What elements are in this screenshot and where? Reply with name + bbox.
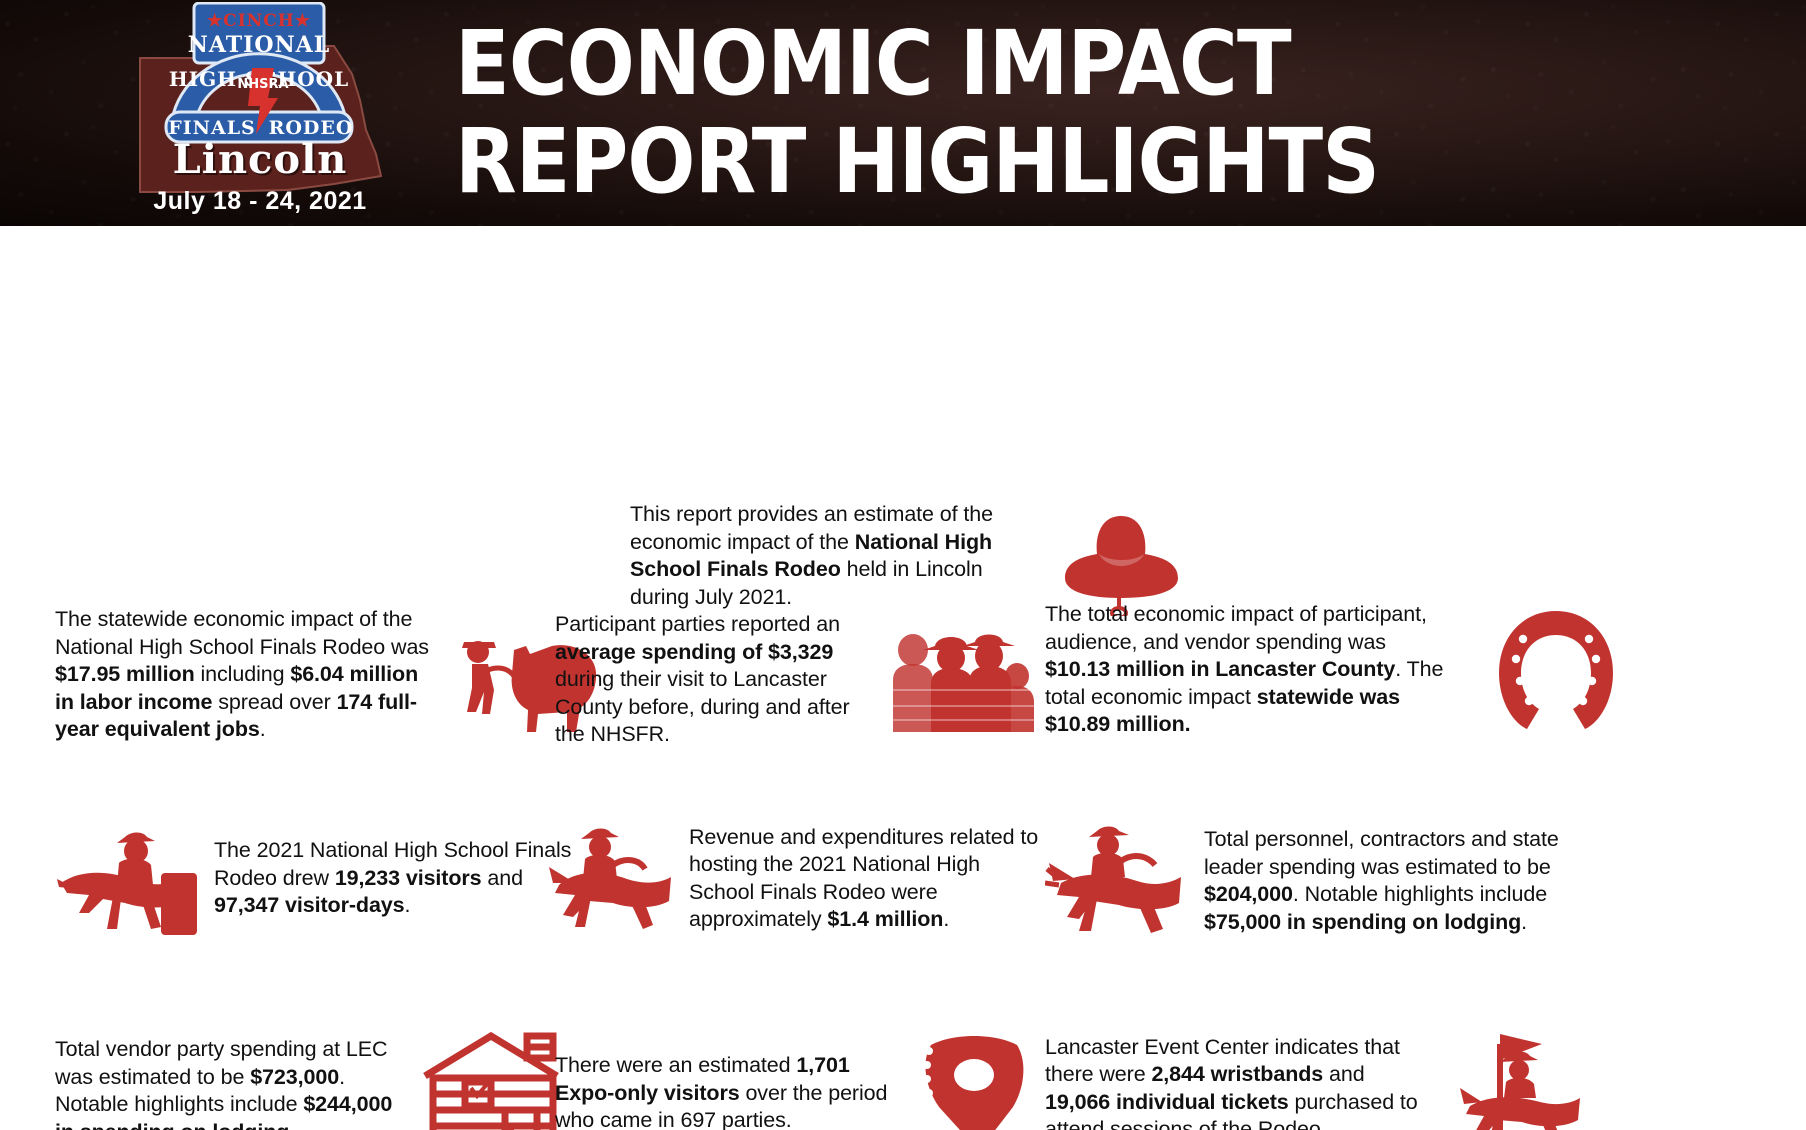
svg-text:★CINCH★: ★CINCH★ bbox=[207, 11, 311, 31]
bandana-icon bbox=[909, 1031, 1039, 1130]
cell-text-vendor-spending: Total vendor party spending at LEC was e… bbox=[55, 1036, 405, 1130]
cell-wristbands-tickets: Lancaster Event Center indicates that th… bbox=[1045, 1026, 1775, 1130]
cell-text-participant-spending: Participant parties reported an average … bbox=[555, 611, 875, 749]
cell-personnel-spending: Total personnel, contractors and state l… bbox=[1045, 821, 1775, 941]
nhsfr-logo: ★CINCH★ NATIONAL HIGH SCHOOL FINALS RODE… bbox=[130, 2, 390, 222]
svg-text:NHSRA: NHSRA bbox=[237, 77, 288, 92]
log-cabin-icon bbox=[419, 1026, 569, 1130]
logo-city-label: Lincoln bbox=[130, 140, 390, 180]
cell-total-economic-impact: The total economic impact of participant… bbox=[1045, 601, 1775, 739]
page-header: ★CINCH★ NATIONAL HIGH SCHOOL FINALS RODE… bbox=[0, 0, 1806, 226]
rodeo-crowd-photo-icon bbox=[889, 624, 1034, 736]
bronc-rider-icon bbox=[545, 821, 675, 936]
cowboy-hat-icon bbox=[1049, 496, 1194, 616]
nhsfr-badge-icon: ★CINCH★ NATIONAL HIGH SCHOOL FINALS RODE… bbox=[156, 2, 362, 154]
horseshoe-icon bbox=[1489, 605, 1624, 735]
cell-text-revenue-expenditures: Revenue and expenditures related to host… bbox=[689, 824, 1049, 934]
cell-text-expo-visitors: There were an estimated 1,701 Expo-only … bbox=[555, 1052, 895, 1130]
page-title-line-2: REPORT HIGHLIGHTS bbox=[455, 112, 1589, 210]
cell-statewide-impact: The statewide economic impact of the Nat… bbox=[55, 606, 600, 744]
bull-rider-icon bbox=[1045, 821, 1190, 941]
barrel-racer-icon bbox=[55, 821, 200, 936]
cell-visitors-drawn: The 2021 National High School Finals Rod… bbox=[55, 821, 600, 936]
intro-block: This report provides an estimate of the … bbox=[630, 496, 1200, 616]
cell-text-wristbands-tickets: Lancaster Event Center indicates that th… bbox=[1045, 1034, 1420, 1130]
intro-text: This report provides an estimate of the … bbox=[630, 501, 1035, 611]
infographic-body: This report provides an estimate of the … bbox=[0, 226, 1806, 1130]
page-title: ECONOMIC IMPACT REPORT HIGHLIGHTS bbox=[455, 14, 1589, 210]
cell-text-personnel-spending: Total personnel, contractors and state l… bbox=[1204, 826, 1604, 936]
flag-rider-icon bbox=[1454, 1026, 1584, 1130]
cell-vendor-spending: Total vendor party spending at LEC was e… bbox=[55, 1026, 600, 1130]
page-title-line-1: ECONOMIC IMPACT bbox=[455, 14, 1589, 112]
cell-text-total-economic-impact: The total economic impact of participant… bbox=[1045, 601, 1445, 739]
logo-dates-label: July 18 - 24, 2021 bbox=[130, 187, 390, 216]
cell-text-visitors-drawn: The 2021 National High School Finals Rod… bbox=[214, 837, 584, 920]
cell-text-statewide-impact: The statewide economic impact of the Nat… bbox=[55, 606, 440, 744]
